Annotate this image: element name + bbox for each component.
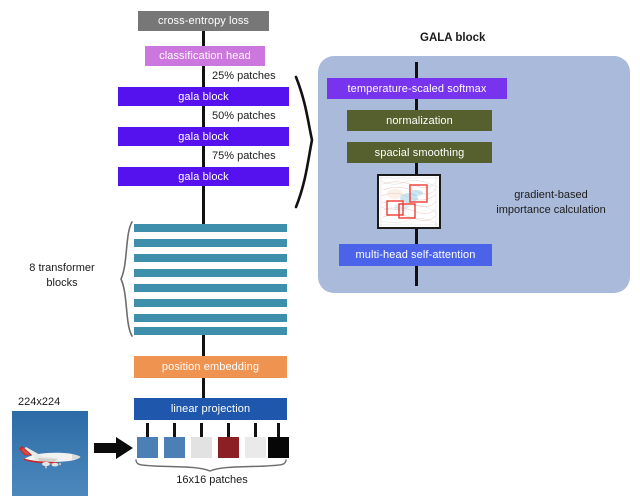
patch-darkred[interactable] [218, 437, 239, 458]
gradient-note-line1: gradient-based [486, 189, 616, 201]
patches-brace [134, 459, 290, 473]
transformer-block-6[interactable] [134, 299, 287, 307]
gala-block-3-label: gala block [178, 171, 229, 183]
transformer-block-8[interactable] [134, 327, 287, 335]
transformer-block-7[interactable] [134, 314, 287, 322]
patch-stem-6 [277, 423, 280, 437]
transformer-blocks-label-line1: 8 transformer [14, 262, 110, 274]
image-to-patches-arrow [94, 437, 134, 459]
gala-connector-softmax-norm [415, 98, 418, 110]
patch-black[interactable] [268, 437, 289, 458]
cross-entropy-loss-label: cross-entropy loss [158, 15, 249, 27]
spine-head-to-gala1 [202, 66, 205, 87]
diagram-canvas: GALA block temperature-scaled softmax no… [0, 0, 640, 496]
gala-block-2[interactable]: gala block [118, 127, 289, 146]
patch-gray-1[interactable] [191, 437, 212, 458]
gala-block-3[interactable]: gala block [118, 167, 289, 186]
patch-stem-2 [173, 423, 176, 437]
linear-projection-label: linear projection [171, 403, 250, 415]
patch-note-75: 75% patches [212, 150, 276, 162]
normalization-label: normalization [386, 115, 453, 127]
input-size-label: 224x224 [18, 396, 60, 408]
transformer-blocks-brace [118, 220, 136, 338]
transformer-block-3[interactable] [134, 254, 287, 262]
spine-gala2-to-gala3 [202, 146, 205, 167]
temperature-scaled-softmax-label: temperature-scaled softmax [348, 83, 487, 95]
linear-projection-box[interactable]: linear projection [134, 398, 287, 420]
gala-block-1[interactable]: gala block [118, 87, 289, 106]
normalization-box[interactable]: normalization [347, 110, 492, 131]
patch-blue-2[interactable] [164, 437, 185, 458]
spine-gala1-to-gala2 [202, 106, 205, 127]
patch-stem-4 [227, 423, 230, 437]
patch-gray-2[interactable] [245, 437, 266, 458]
classification-head-box[interactable]: classification head [145, 46, 265, 66]
gala-panel-title: GALA block [420, 32, 485, 44]
patch-stem-3 [200, 423, 203, 437]
gala-block-2-label: gala block [178, 131, 229, 143]
transformer-block-2[interactable] [134, 239, 287, 247]
position-embedding-label: position embedding [162, 361, 259, 373]
transformer-blocks-label-line2: blocks [14, 277, 110, 289]
patch-note-50: 50% patches [212, 110, 276, 122]
gala-connector-thumb-attention [415, 228, 418, 244]
multi-head-self-attention-label: multi-head self-attention [356, 249, 476, 261]
transformer-block-1[interactable] [134, 224, 287, 232]
spine-gala3-to-transformers [202, 186, 205, 207]
patch-blue-1[interactable] [137, 437, 158, 458]
spacial-smoothing-box[interactable]: spacial smoothing [347, 142, 492, 163]
gradient-importance-thumbnail [377, 174, 441, 229]
patch-stem-5 [254, 423, 257, 437]
gala-connector-top [415, 62, 418, 78]
cross-entropy-loss-box[interactable]: cross-entropy loss [138, 11, 269, 31]
spacial-smoothing-label: spacial smoothing [375, 147, 465, 159]
classification-head-label: classification head [159, 50, 251, 62]
gala-connector-bottom [415, 266, 418, 286]
transformer-block-5[interactable] [134, 284, 287, 292]
patches-caption: 16x16 patches [152, 474, 272, 486]
spine-posemb-to-linear [202, 378, 205, 398]
position-embedding-box[interactable]: position embedding [134, 356, 287, 378]
patch-stem-1 [146, 423, 149, 437]
transformer-block-4[interactable] [134, 269, 287, 277]
gradient-note-line2: importance calculation [486, 204, 616, 216]
temperature-scaled-softmax-box[interactable]: temperature-scaled softmax [327, 78, 507, 99]
multi-head-self-attention-box[interactable]: multi-head self-attention [339, 244, 492, 266]
patch-note-25: 25% patches [212, 70, 276, 82]
gala-expansion-brace [292, 74, 322, 210]
spine-transformer-entry [202, 206, 205, 226]
input-image-airplane [12, 411, 88, 496]
gala-block-1-label: gala block [178, 91, 229, 103]
